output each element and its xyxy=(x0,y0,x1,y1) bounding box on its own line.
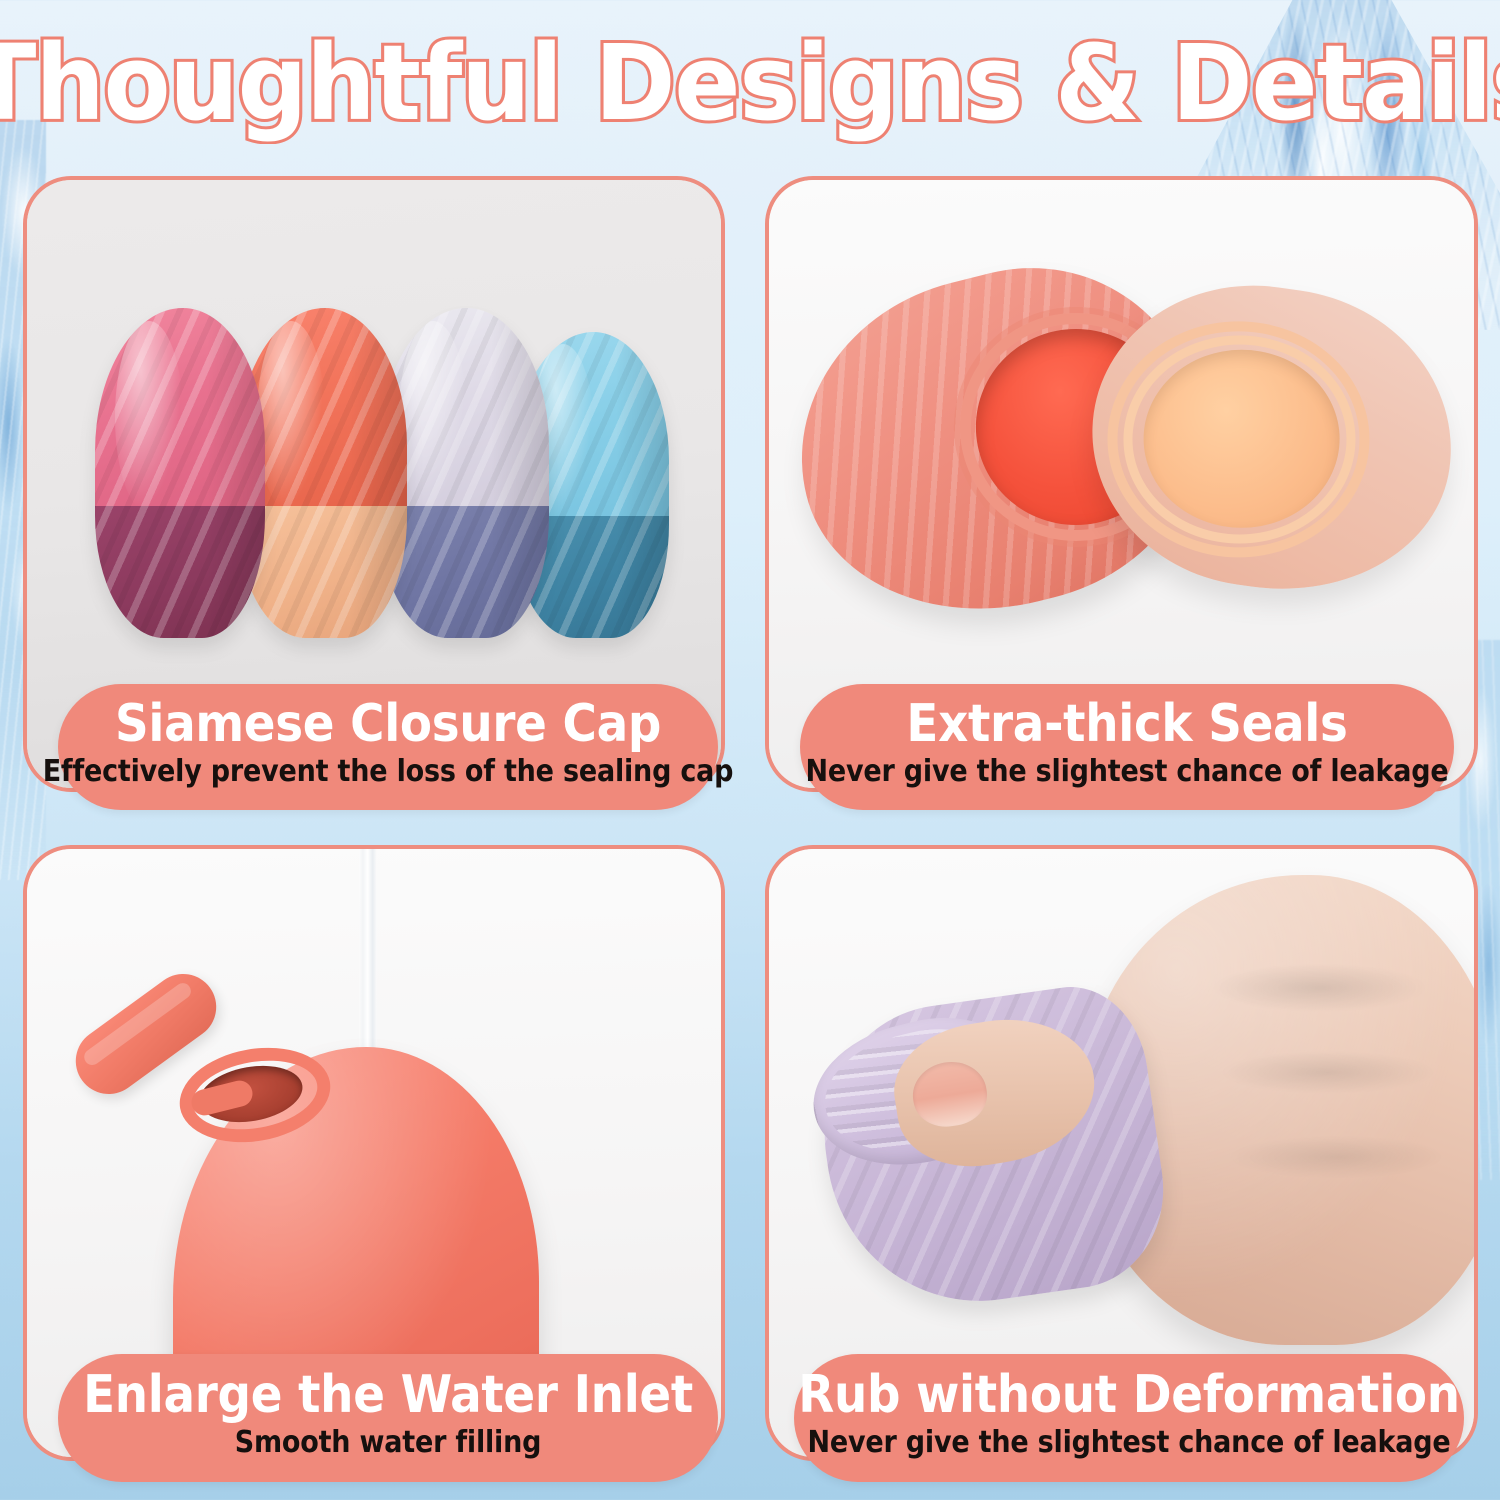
caption-siamese-closure-cap: Siamese Closure Cap Effectively prevent … xyxy=(58,684,718,810)
caption-extra-thick-seals: Extra-thick Seals Never give the slighte… xyxy=(800,684,1454,810)
product-pink-bottle xyxy=(95,308,265,638)
caption-subtitle: Never give the slightest chance of leaka… xyxy=(807,1424,1450,1462)
caption-subtitle: Smooth water filling xyxy=(235,1424,541,1462)
caption-enlarge-the-water-inlet: Enlarge the Water Inlet Smooth water fil… xyxy=(58,1354,718,1482)
caption-subtitle: Effectively prevent the loss of the seal… xyxy=(43,753,734,791)
caption-title: Siamese Closure Cap xyxy=(115,695,661,753)
product-peach-seal xyxy=(1073,264,1471,611)
caption-subtitle: Never give the slightest chance of leaka… xyxy=(805,753,1448,791)
thumbnail-icon xyxy=(908,1057,991,1132)
caption-title: Rub without Deformation xyxy=(798,1366,1460,1424)
bottle-lineup xyxy=(27,293,721,638)
page-title: Thoughtful Designs & Details xyxy=(0,24,1500,144)
caption-title: Enlarge the Water Inlet xyxy=(83,1366,693,1424)
caption-title: Extra-thick Seals xyxy=(906,695,1347,753)
caption-rub-without-deformation: Rub without Deformation Never give the s… xyxy=(794,1354,1464,1482)
